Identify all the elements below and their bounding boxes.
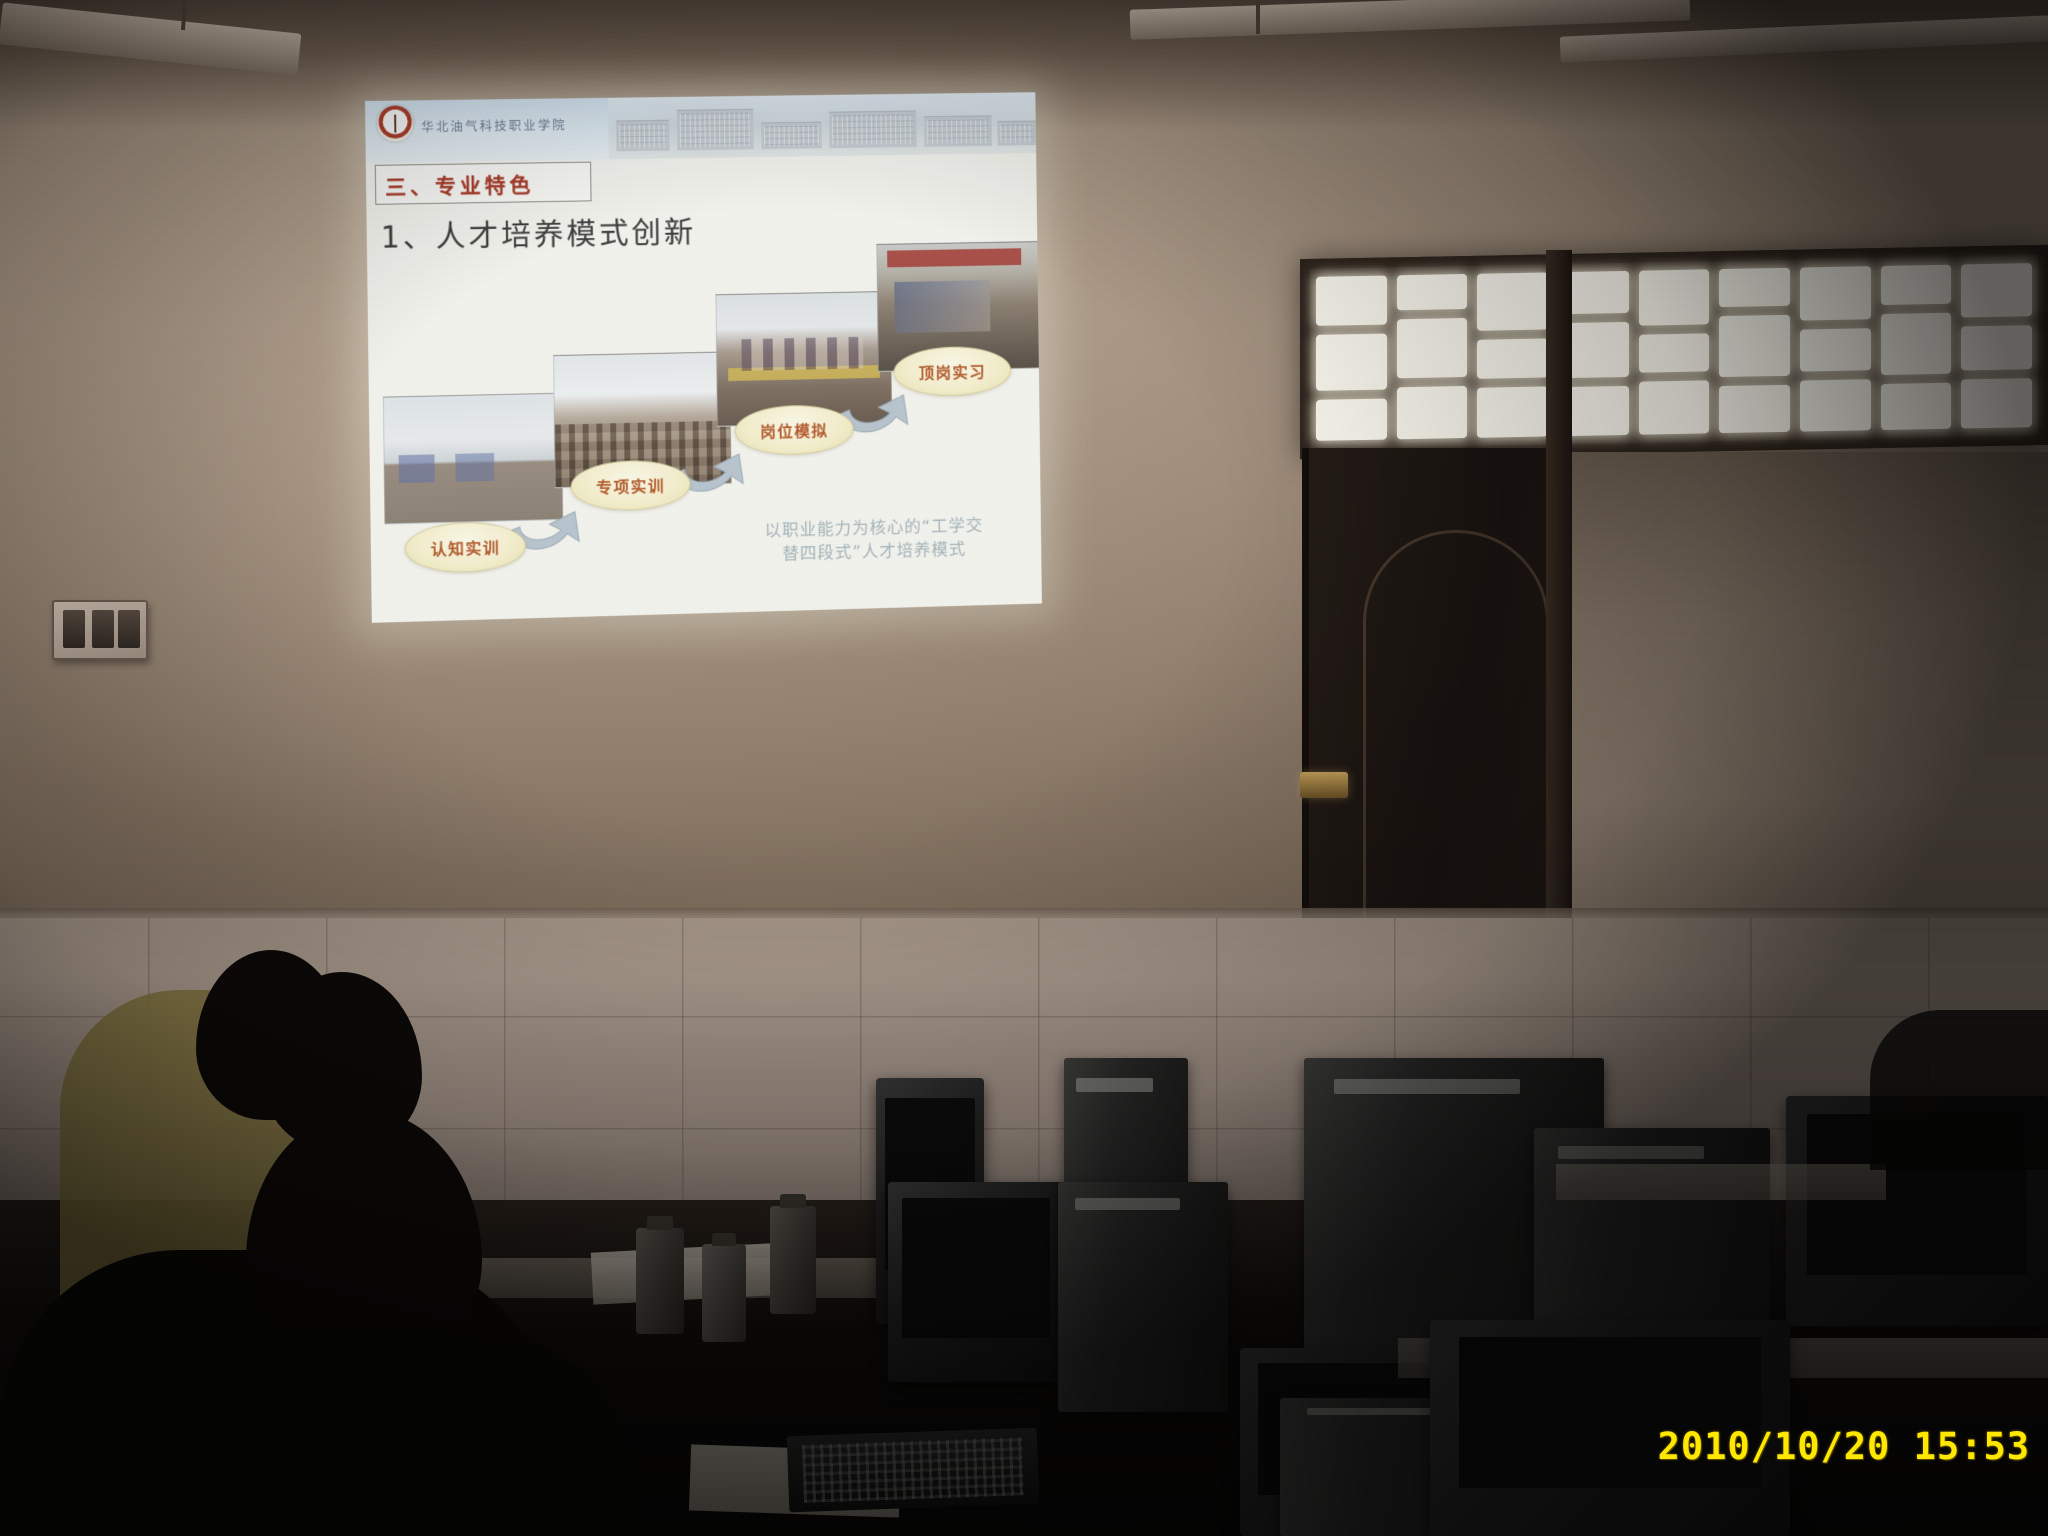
door-handle[interactable] <box>1300 772 1348 798</box>
camera-timestamp: 2010/10/20 15:53 <box>1658 1425 2030 1468</box>
school-name-text: 华北油气科技职业学院 <box>421 114 567 135</box>
projected-slide: 华北油气科技职业学院 三、专业特色 1、人才培养模式创新 <box>365 92 1042 623</box>
photo-scene: 华北油气科技职业学院 三、专业特色 1、人才培养模式创新 <box>0 0 2048 1536</box>
back-desk <box>1556 1164 1886 1200</box>
stage-label-1: 认知实训 <box>431 534 501 560</box>
slide-section-heading: 三、专业特色 <box>385 169 534 201</box>
slide-caption: 以职业能力为核心的“工学交 替四段式”人才培养模式 <box>728 514 1019 569</box>
pc-tower-2 <box>1058 1182 1228 1412</box>
stage-label-2: 专项实训 <box>596 473 665 499</box>
stage-label-4: 顶岗实习 <box>918 359 986 384</box>
audience-person-3-body <box>120 1330 640 1536</box>
banner-campus-photo <box>608 92 1036 159</box>
stage-label-3: 岗位模拟 <box>760 417 828 442</box>
slide-title: 1、人才培养模式创新 <box>380 208 696 257</box>
stage-oval-1: 认知实训 <box>404 521 526 574</box>
slide-banner: 华北油气科技职业学院 <box>365 92 1036 163</box>
stage-oval-4: 顶岗实习 <box>893 346 1011 398</box>
school-emblem-icon <box>377 105 413 141</box>
thermos-1 <box>636 1228 684 1334</box>
thermos-3 <box>770 1206 816 1314</box>
ceiling-rod-right <box>1256 0 1260 34</box>
crt-monitor-2 <box>888 1182 1064 1382</box>
audience-person-4 <box>1870 1010 2048 1170</box>
keyboard-1[interactable] <box>787 1428 1040 1513</box>
thermos-2 <box>702 1244 746 1342</box>
wall-light-switch[interactable] <box>52 600 148 660</box>
lattice-transom-window <box>1300 245 2048 459</box>
slide-section-heading-box: 三、专业特色 <box>375 162 592 205</box>
